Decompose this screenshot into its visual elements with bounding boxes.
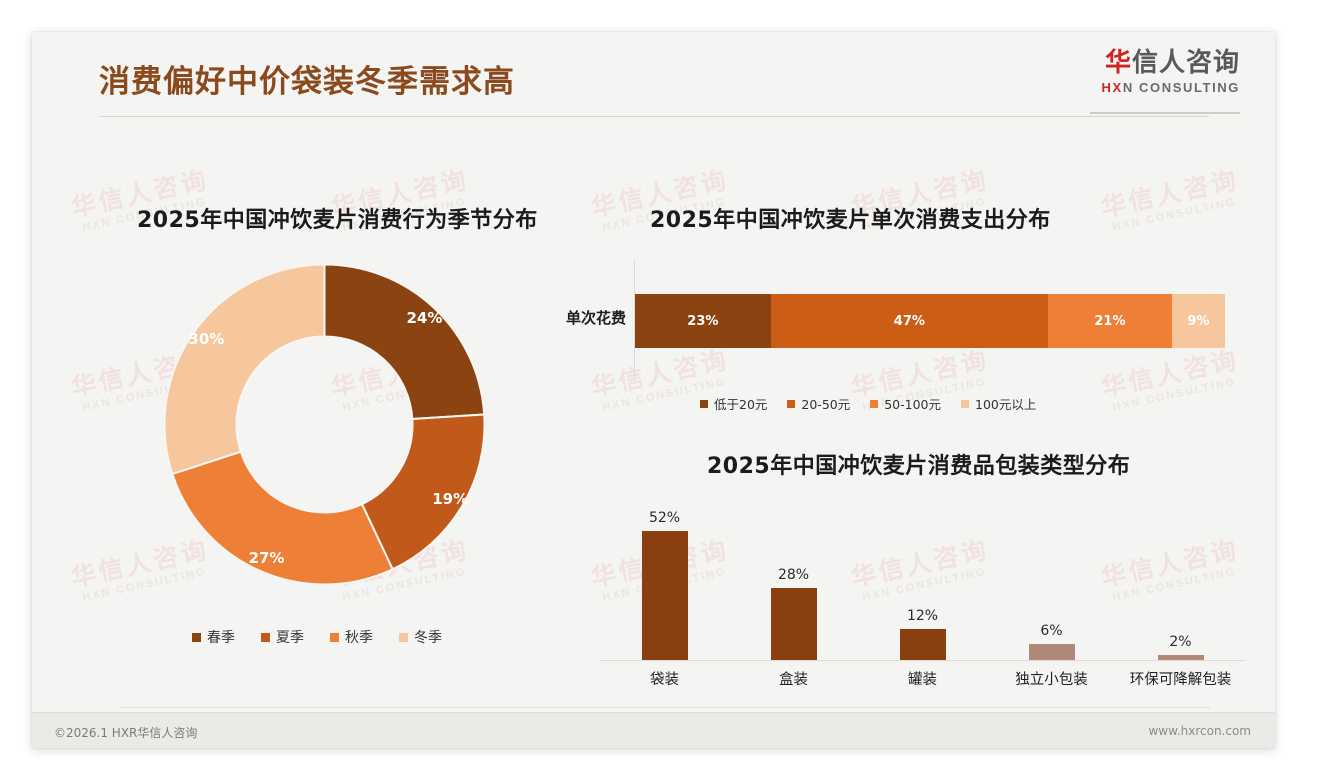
spend-legend-label: 低于20元	[714, 394, 767, 413]
spend-legend-item-低于20元[interactable]: 低于20元	[700, 394, 767, 413]
logo-english-rest: N CONSULTING	[1123, 80, 1240, 95]
package-bar-独立小包装[interactable]	[1029, 644, 1075, 660]
package-column-plot: 52%28%12%6%2%	[600, 510, 1245, 660]
season-donut-graphic: 24%19%27%30%	[162, 262, 487, 587]
spend-legend-label: 100元以上	[975, 394, 1036, 413]
logo-chinese-text: 华信人咨询	[1102, 49, 1240, 78]
legend-swatch-icon	[787, 400, 795, 408]
donut-legend-label: 冬季	[414, 627, 442, 647]
donut-slice-冬季[interactable]	[164, 265, 324, 474]
logo-hx-prefix: HX	[1102, 80, 1123, 95]
legend-swatch-icon	[399, 633, 408, 642]
spend-stacked-bar: 23%47%21%9%	[635, 294, 1225, 348]
package-value-环保可降解包装: 2%	[1169, 634, 1191, 650]
package-baseline	[600, 660, 1245, 661]
page-title: 消费偏好中价袋装冬季需求高	[99, 56, 515, 101]
package-category-环保可降解包装: 环保可降解包装	[1121, 668, 1241, 689]
spend-legend-label: 20-50元	[801, 394, 850, 413]
legend-swatch-icon	[330, 633, 339, 642]
footnote-divider	[120, 707, 1210, 708]
package-value-袋装: 52%	[649, 510, 680, 526]
website-url: www.hxrcon.com	[1148, 724, 1251, 738]
legend-swatch-icon	[192, 633, 201, 642]
package-category-独立小包装: 独立小包装	[992, 668, 1112, 689]
package-column-chart: 2025年中国冲饮麦片消费品包装类型分布 52%28%12%6%2% 袋装盒装罐…	[552, 432, 1262, 732]
season-donut-legend: 春季夏季秋季冬季	[192, 627, 442, 647]
donut-legend-item-春季[interactable]: 春季	[192, 627, 235, 647]
spend-legend-item-20-50元[interactable]: 20-50元	[787, 394, 850, 413]
logo-english-text: HXN CONSULTING	[1102, 80, 1240, 95]
logo-hua-character: 华	[1105, 48, 1132, 78]
donut-legend-label: 春季	[207, 627, 235, 647]
legend-swatch-icon	[261, 633, 270, 642]
package-column-title: 2025年中国冲饮麦片消费品包装类型分布	[707, 448, 1130, 480]
donut-legend-label: 夏季	[276, 627, 304, 647]
spend-legend-item-100元以上[interactable]: 100元以上	[961, 394, 1036, 413]
donut-legend-item-夏季[interactable]: 夏季	[261, 627, 304, 647]
legend-swatch-icon	[700, 400, 708, 408]
donut-slice-春季[interactable]	[325, 265, 485, 419]
package-column-罐装[interactable]: 12%	[863, 510, 983, 660]
spend-legend-item-50-100元[interactable]: 50-100元	[870, 394, 941, 413]
spend-segment-100元以上[interactable]: 9%	[1172, 294, 1225, 348]
slide-footer-bar: ©2026.1 HXR华信人咨询 www.hxrcon.com	[32, 712, 1275, 748]
donut-legend-item-冬季[interactable]: 冬季	[399, 627, 442, 647]
package-category-盒装: 盒装	[734, 668, 854, 689]
spend-stacked-chart: 2025年中国冲饮麦片单次消费支出分布 单次花费 23%47%21%9% 低于2…	[472, 182, 1262, 432]
legend-swatch-icon	[870, 400, 878, 408]
package-column-环保可降解包装[interactable]: 2%	[1121, 510, 1241, 660]
company-logo: 华信人咨询 HXN CONSULTING	[1102, 49, 1240, 95]
header-divider	[99, 116, 1209, 117]
spend-stacked-legend: 低于20元20-50元50-100元100元以上	[700, 394, 1036, 413]
package-category-axis: 袋装盒装罐装独立小包装环保可降解包装	[600, 668, 1245, 689]
package-column-盒装[interactable]: 28%	[734, 510, 854, 660]
donut-legend-item-秋季[interactable]: 秋季	[330, 627, 373, 647]
package-bar-袋装[interactable]	[642, 531, 688, 660]
spend-stacked-title: 2025年中国冲饮麦片单次消费支出分布	[650, 202, 1051, 234]
logo-chinese-rest: 信人咨询	[1132, 48, 1240, 78]
donut-legend-label: 秋季	[345, 627, 373, 647]
donut-svg	[162, 262, 487, 587]
spend-category-label: 单次花费	[530, 307, 626, 328]
slide-canvas: 华信人咨询HXN CONSULTING华信人咨询HXN CONSULTING华信…	[32, 32, 1275, 748]
package-bar-罐装[interactable]	[900, 629, 946, 660]
logo-underline	[1090, 112, 1240, 114]
package-value-罐装: 12%	[907, 608, 938, 624]
package-value-盒装: 28%	[778, 567, 809, 583]
spend-segment-50-100元[interactable]: 21%	[1048, 294, 1172, 348]
copyright-text: ©2026.1 HXR华信人咨询	[54, 724, 197, 741]
package-category-袋装: 袋装	[605, 668, 725, 689]
spend-legend-label: 50-100元	[884, 394, 941, 413]
package-column-袋装[interactable]: 52%	[605, 510, 725, 660]
donut-slice-秋季[interactable]	[172, 452, 392, 585]
spend-segment-20-50元[interactable]: 47%	[771, 294, 1048, 348]
package-value-独立小包装: 6%	[1040, 623, 1062, 639]
package-bar-盒装[interactable]	[771, 588, 817, 660]
spend-segment-低于20元[interactable]: 23%	[635, 294, 771, 348]
slide-header: 消费偏好中价袋装冬季需求高 华信人咨询 HXN CONSULTING	[32, 32, 1275, 126]
package-category-罐装: 罐装	[863, 668, 983, 689]
legend-swatch-icon	[961, 400, 969, 408]
package-column-独立小包装[interactable]: 6%	[992, 510, 1112, 660]
